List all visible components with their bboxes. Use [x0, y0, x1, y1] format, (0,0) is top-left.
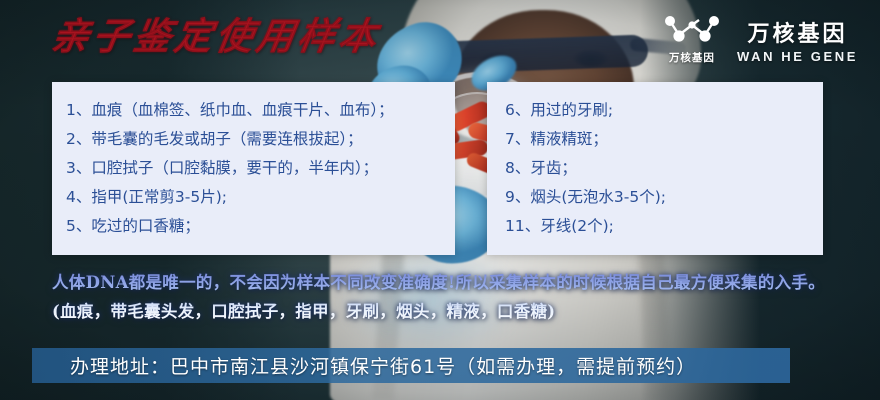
- list-item: 5、吃过的口香糖；: [52, 212, 455, 241]
- address-text: 办理地址：巴中市南江县沙河镇保宁街61号（如需办理，需提前预约）: [32, 352, 696, 379]
- sample-list-panel-left: 1、血痕（血棉签、纸巾血、血痕干片、血布）； 2、带毛囊的毛发或胡子（需要连根拔…: [52, 82, 455, 255]
- sample-list-left: 1、血痕（血棉签、纸巾血、血痕干片、血布）； 2、带毛囊的毛发或胡子（需要连根拔…: [52, 96, 455, 241]
- list-item: 8、牙齿；: [487, 154, 823, 183]
- brand-wordmark: 万核基因 WAN HE GENE: [737, 16, 858, 64]
- molecule-network-icon: [661, 14, 723, 48]
- list-item: 9、烟头(无泡水3-5个);: [487, 183, 823, 212]
- brand-lockup: 万核基因 万核基因 WAN HE GENE: [661, 14, 858, 65]
- content-layer: 亲子鉴定使用样本: [0, 0, 880, 400]
- address-bar: 办理地址：巴中市南江县沙河镇保宁街61号（如需办理，需提前预约）: [32, 348, 790, 383]
- list-item: 7、精液精斑；: [487, 125, 823, 154]
- list-item: 2、带毛囊的毛发或胡子（需要连根拔起）；: [52, 125, 455, 154]
- list-item: 1、血痕（血棉签、纸巾血、血痕干片、血布）；: [52, 96, 455, 125]
- list-item: 6、用过的牙刷;: [487, 96, 823, 125]
- brand-mark: 万核基因: [661, 14, 723, 65]
- brand-name-en: WAN HE GENE: [737, 49, 858, 64]
- list-item: 3、口腔拭子（口腔黏膜，要干的，半年内）；: [52, 154, 455, 183]
- dna-note-text: 人体DNA都是唯一的，不会因为样本不同改变准确度!所以采集样本的时候根据自己最方…: [52, 268, 842, 326]
- sample-list-panel-right: 6、用过的牙刷; 7、精液精斑； 8、牙齿； 9、烟头(无泡水3-5个); 11…: [487, 82, 823, 255]
- poster-canvas: 亲子鉴定使用样本: [0, 0, 880, 400]
- list-item: 4、指甲(正常剪3-5片);: [52, 183, 455, 212]
- page-title: 亲子鉴定使用样本: [49, 18, 383, 55]
- brand-name-cn: 万核基因: [747, 16, 847, 48]
- brand-mark-label: 万核基因: [669, 50, 715, 65]
- list-item: 11、牙线(2个);: [487, 212, 823, 241]
- sample-list-right: 6、用过的牙刷; 7、精液精斑； 8、牙齿； 9、烟头(无泡水3-5个); 11…: [487, 96, 823, 241]
